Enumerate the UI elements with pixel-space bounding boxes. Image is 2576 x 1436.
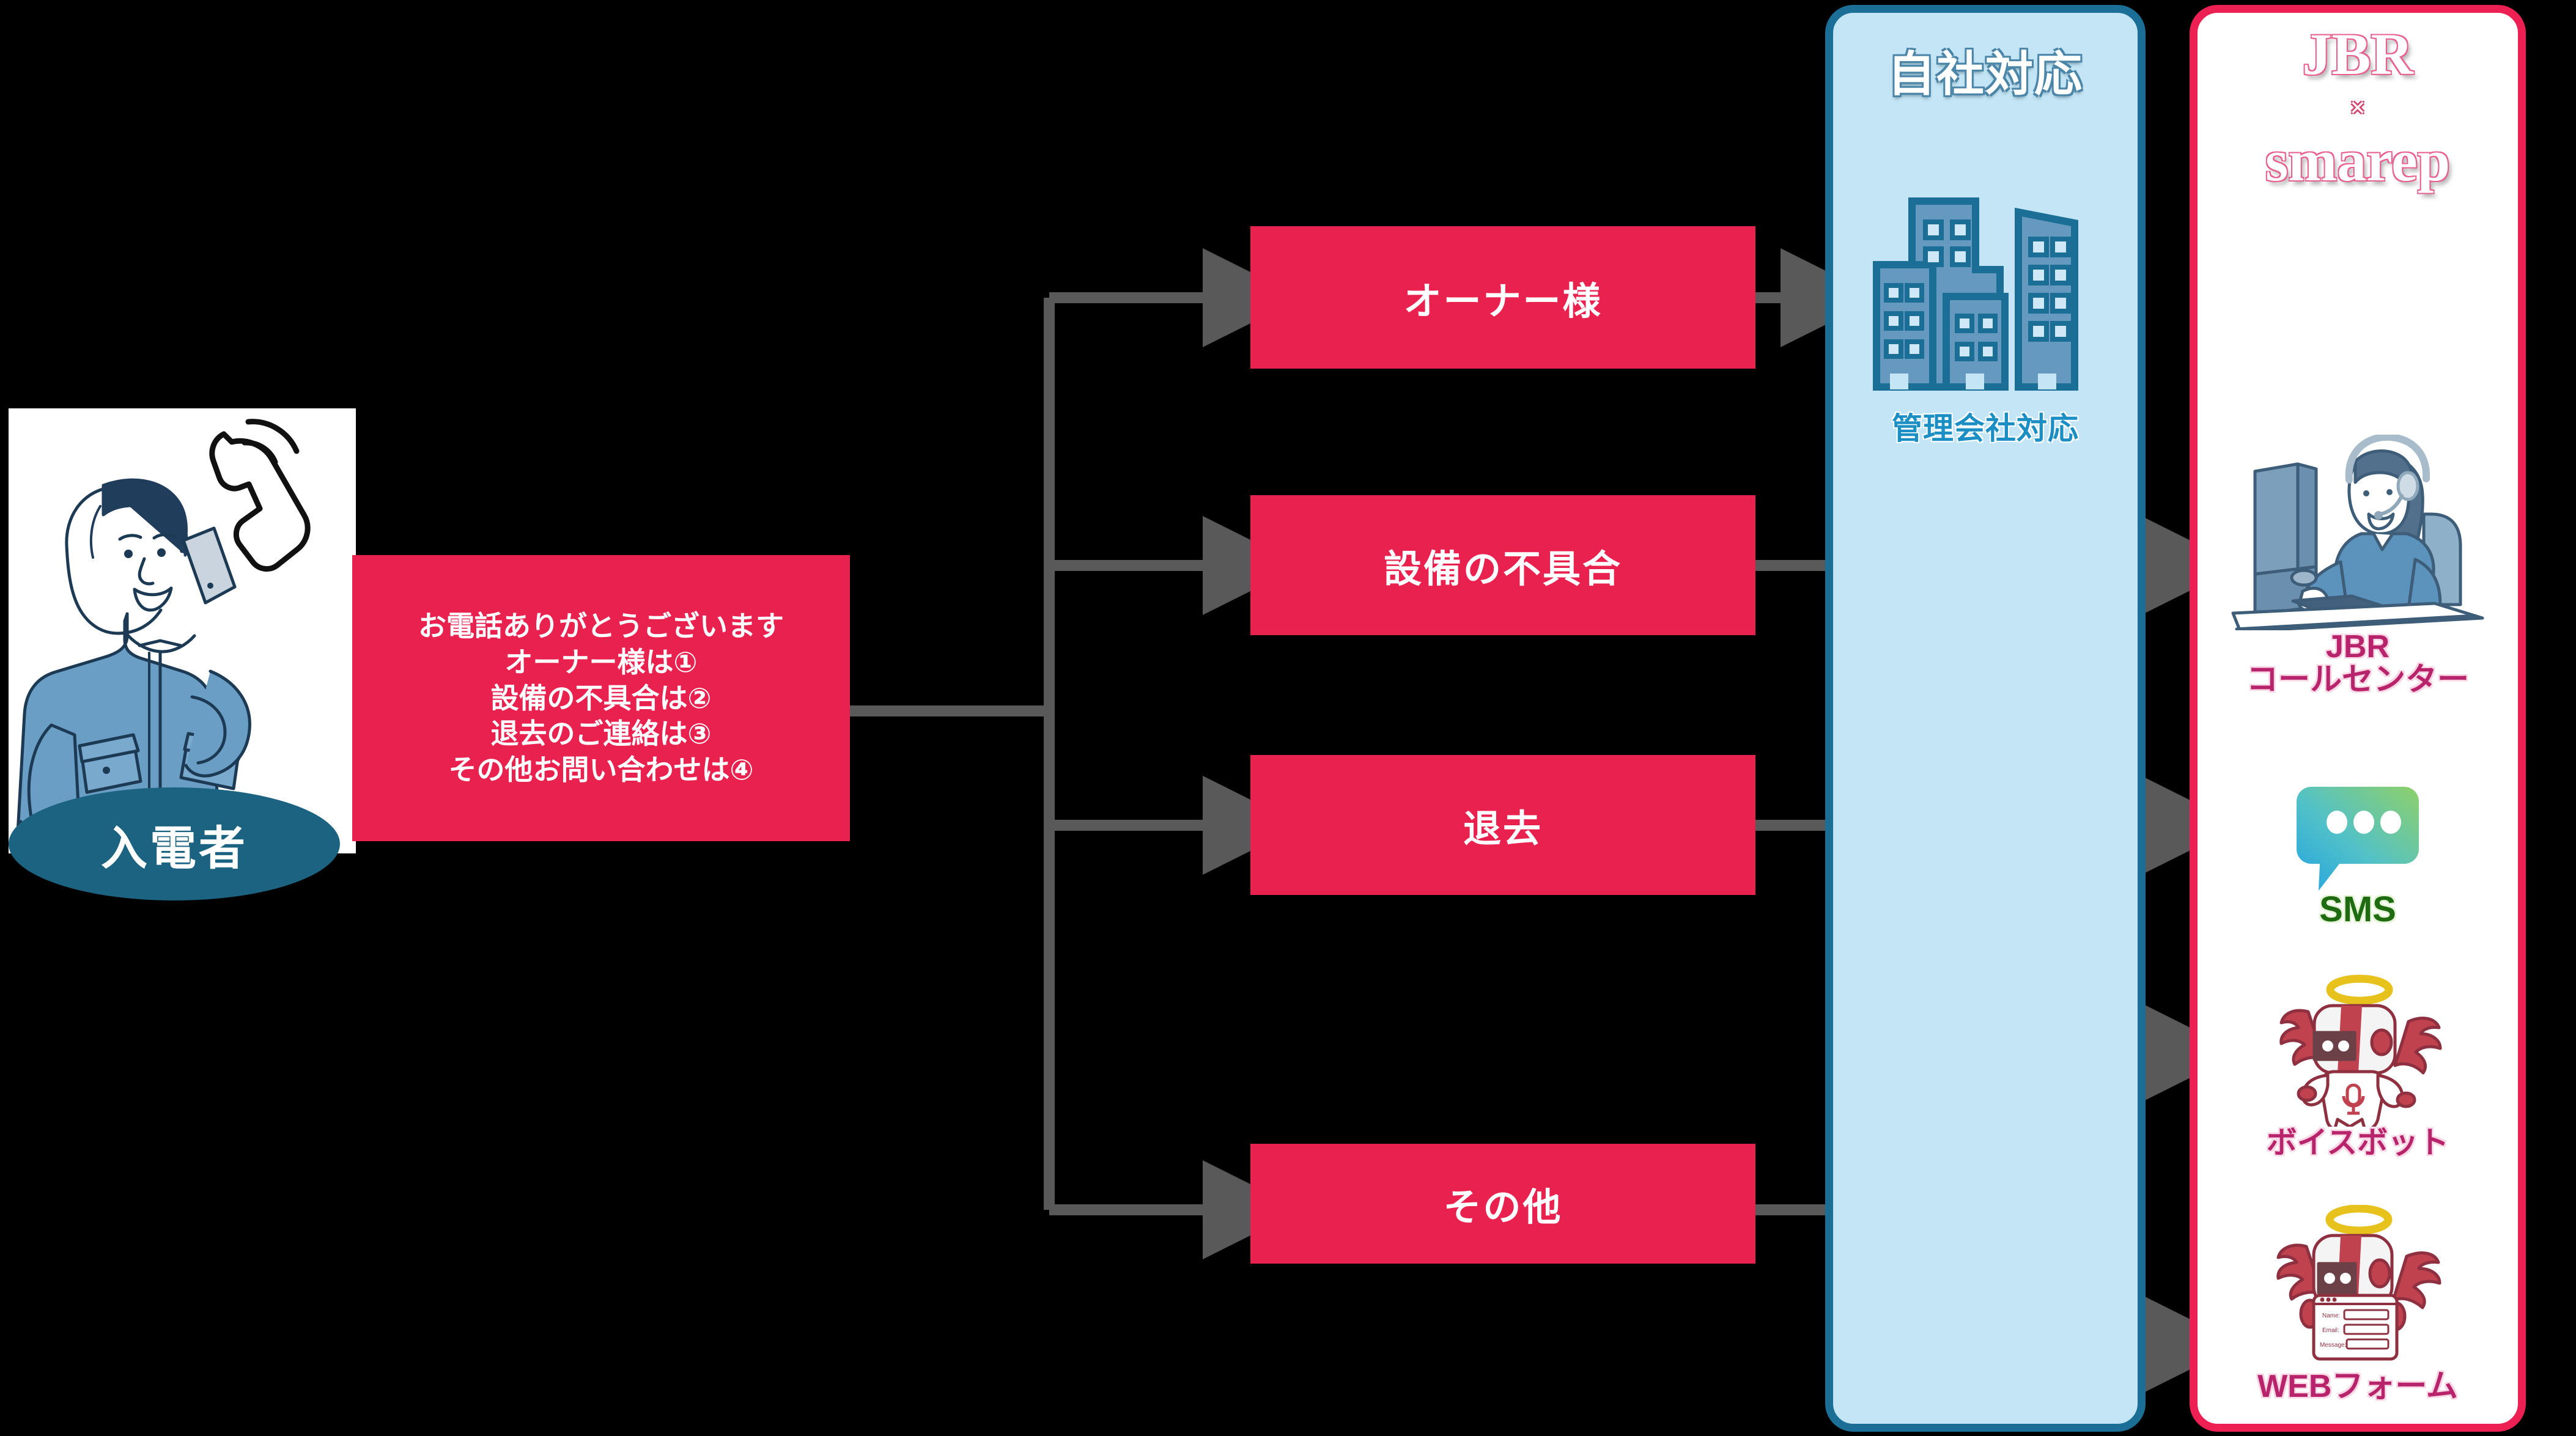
headset-operator-icon — [2229, 435, 2486, 630]
sms-bubble-icon — [2297, 784, 2419, 891]
caller-photo — [9, 408, 356, 853]
menu-option-move-out[interactable]: 退去 — [1250, 755, 1755, 895]
channel-call-center-label-line2: コールセンター — [2246, 663, 2469, 696]
ivr-line-4: その他お問い合わせは④ — [449, 752, 754, 788]
channel-web-form[interactable]: Name: Email: Message: WEBフォーム — [2198, 1205, 2518, 1403]
channel-voice-bot[interactable]: ボイスボット — [2198, 974, 2518, 1158]
menu-option-label: オーナー様 — [1403, 270, 1602, 325]
brand-jbr: JBR — [2198, 20, 2518, 88]
menu-option-equipment-trouble[interactable]: 設備の不具合 — [1250, 495, 1755, 635]
menu-option-label: その他 — [1443, 1176, 1562, 1231]
brand-smarep: smarep — [2198, 127, 2518, 194]
angel-robot-form-icon: Name: Email: Message: — [2266, 1205, 2449, 1370]
svg-text:Name:: Name: — [2322, 1313, 2340, 1319]
channel-web-form-label: WEBフォーム — [2257, 1370, 2458, 1403]
menu-option-other[interactable]: その他 — [1250, 1144, 1755, 1264]
panel-self-handling-title: 自社対応 — [1833, 36, 2138, 105]
ivr-announcement-box: お電話ありがとうございます オーナー様は① 設備の不具合は② 退去のご連絡は③ … — [352, 555, 850, 841]
channel-call-center-label-line1: JBR — [2326, 630, 2390, 663]
channel-sms[interactable]: SMS — [2198, 784, 2518, 928]
channel-sms-label: SMS — [2319, 891, 2396, 928]
channel-voice-bot-label: ボイスボット — [2267, 1127, 2449, 1158]
panel-jbr-smarep: JBR × smarep — [2190, 5, 2526, 1432]
caller-badge: 入電者 — [9, 787, 340, 900]
svg-text:Message:: Message: — [2320, 1342, 2346, 1349]
channel-call-center[interactable]: JBR コールセンター — [2198, 435, 2518, 696]
angel-robot-mic-icon — [2269, 974, 2446, 1127]
brand-cross-icon: × — [2198, 91, 2518, 123]
panel-self-handling-caption: 管理会社対応 — [1833, 404, 2138, 448]
caller-badge-label: 入電者 — [101, 811, 248, 878]
menu-option-label: 退去 — [1463, 798, 1543, 853]
menu-option-label: 設備の不具合 — [1384, 538, 1622, 593]
ivr-line-1: オーナー様は① — [505, 644, 698, 680]
menu-option-owner[interactable]: オーナー様 — [1250, 226, 1755, 369]
ivr-line-2: 設備の不具合は② — [491, 680, 712, 716]
ivr-line-0: お電話ありがとうございます — [418, 608, 784, 644]
diagram-canvas: 入電者 お電話ありがとうございます オーナー様は① 設備の不具合は② 退去のご連… — [0, 0, 2576, 1436]
panel-self-handling: 自社対応 — [1825, 5, 2146, 1432]
man-on-phone-illustration — [9, 408, 356, 853]
svg-text:Email:: Email: — [2322, 1327, 2339, 1334]
office-buildings-icon — [1833, 196, 2138, 392]
ivr-line-3: 退去のご連絡は③ — [491, 716, 712, 752]
